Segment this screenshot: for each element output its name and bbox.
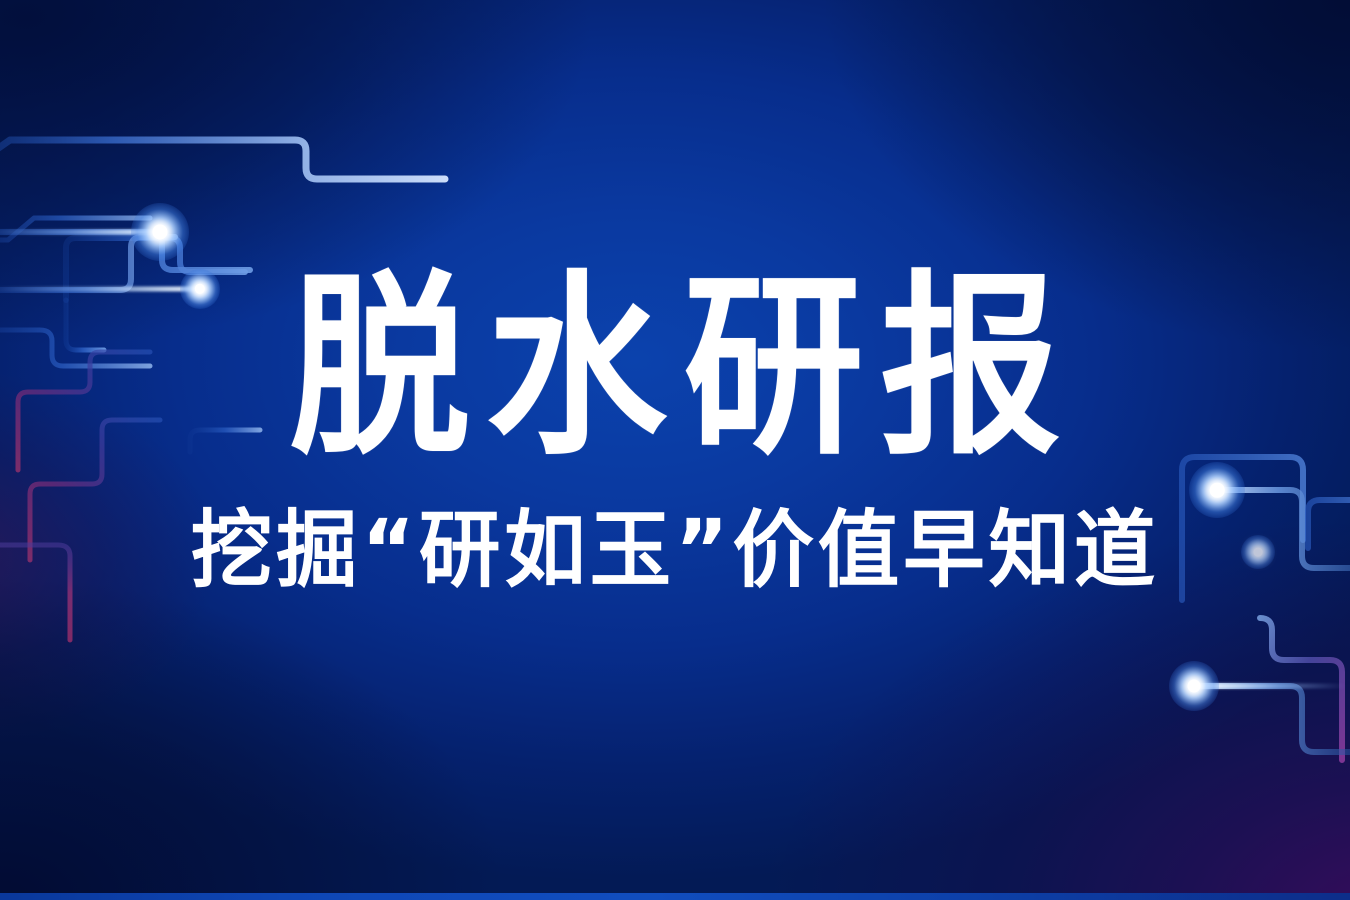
glow-node-right-lower (1169, 661, 1219, 711)
page-title: 脱水研报 (54, 268, 1296, 468)
banner-text-block: 脱水研报 挖掘“研如玉”价值早知道 (0, 268, 1350, 598)
glow-node-upper-left (131, 203, 189, 261)
page-subtitle: 挖掘“研如玉”价值早知道 (20, 502, 1330, 598)
report-banner: 脱水研报 挖掘“研如玉”价值早知道 (0, 0, 1350, 900)
bottom-accent-strip (0, 893, 1350, 900)
